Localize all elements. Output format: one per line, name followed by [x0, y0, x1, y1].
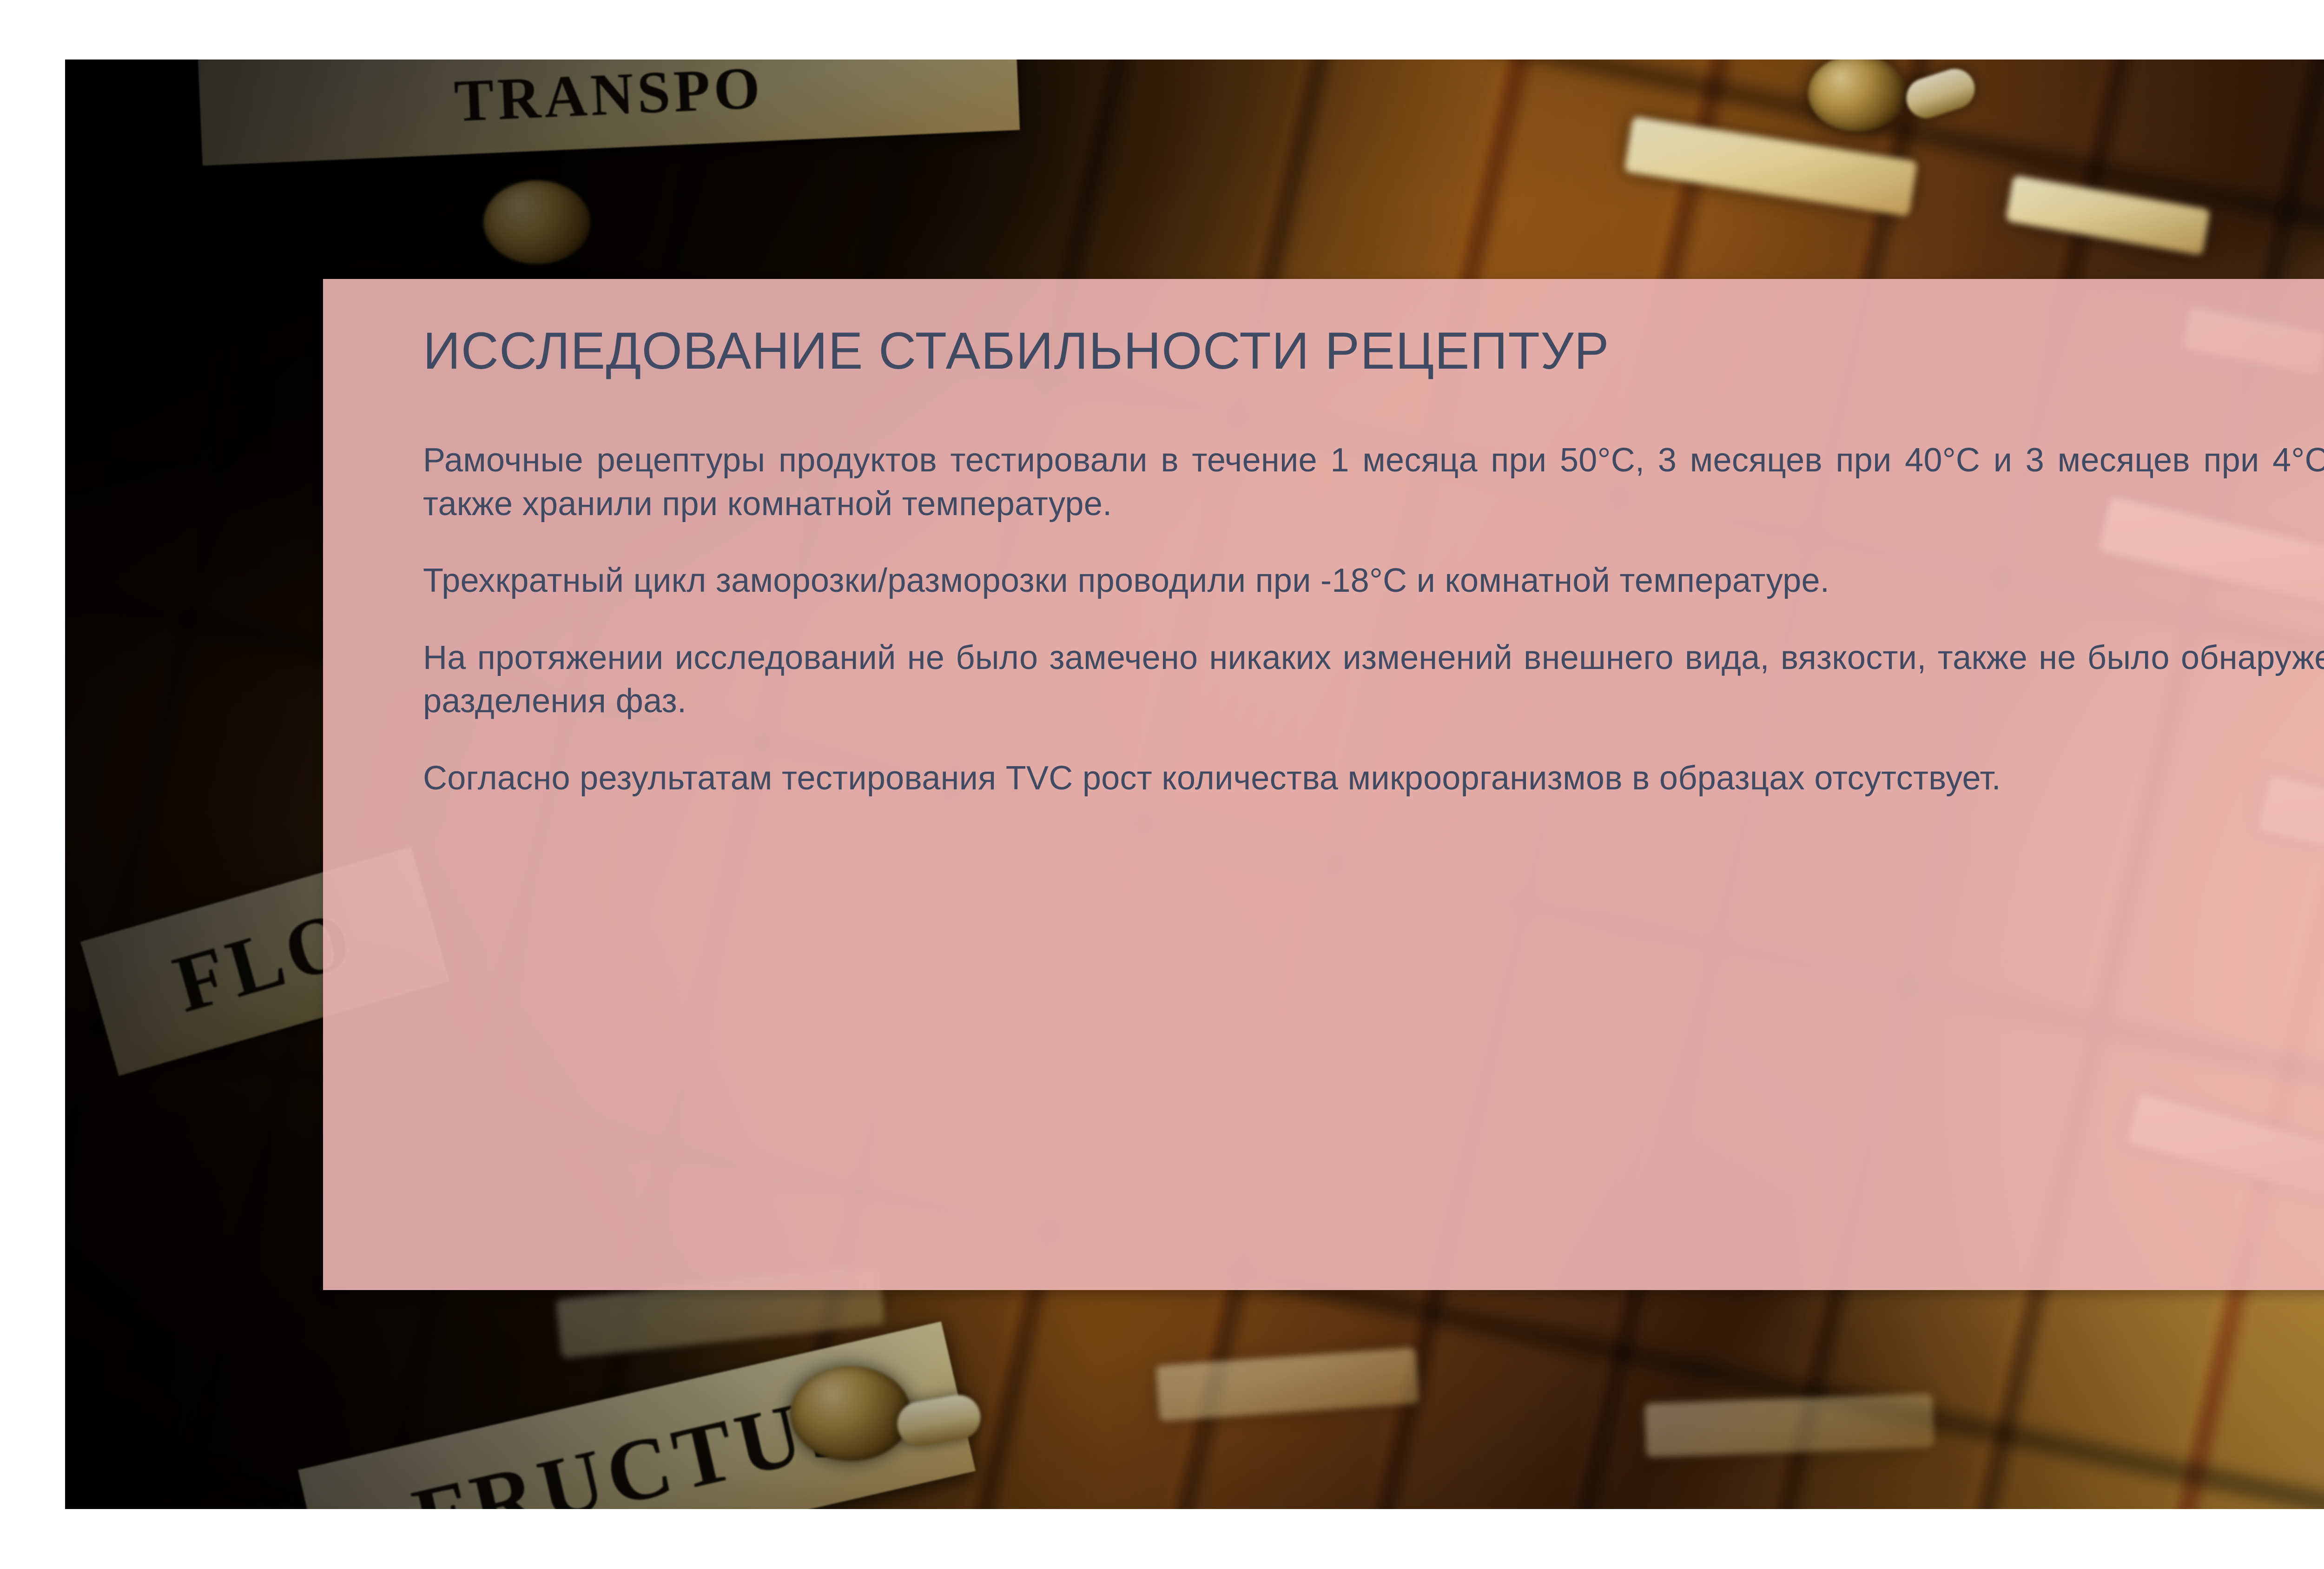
paragraph-3: На протяжении исследований не было замеч… — [423, 636, 2324, 723]
drawer-knob-top-left — [483, 180, 590, 264]
drawer-knob-bottom — [790, 1366, 911, 1461]
content-panel: ИССЛЕДОВАНИЕ СТАБИЛЬНОСТИ РЕЦЕПТУР Рамоч… — [323, 279, 2324, 1290]
drawer-label-transpo: TRANSPO — [198, 60, 1020, 166]
presentation-slide: TRANSPO FLO FRUCTUS ИССЛЕДОВАНИЕ СТАБИЛЬ… — [0, 0, 2324, 1569]
paragraph-2: Трехкратный цикл заморозки/разморозки пр… — [423, 559, 2324, 603]
page-title: ИССЛЕДОВАНИЕ СТАБИЛЬНОСТИ РЕЦЕПТУР — [423, 323, 2324, 379]
paragraph-1: Рамочные рецептуры продуктов тестировали… — [423, 439, 2324, 526]
body-text-block: Рамочные рецептуры продуктов тестировали… — [423, 439, 2324, 801]
paragraph-4: Согласно результатам тестирования TVC ро… — [423, 757, 2324, 801]
